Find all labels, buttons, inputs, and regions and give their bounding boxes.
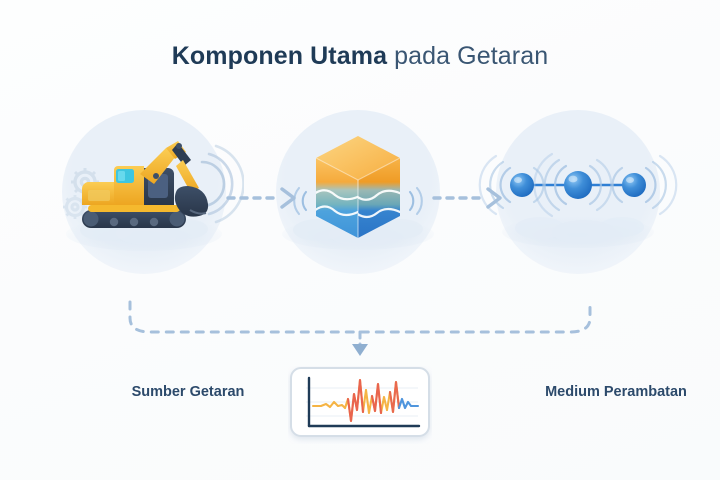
component-medium: Medium Perambatan	[258, 110, 458, 260]
wave-node	[564, 171, 592, 199]
connector-columns-to-result	[100, 298, 620, 366]
excavator-icon	[44, 110, 244, 260]
component-propagation: Perambatan	[478, 110, 678, 260]
component-medium-label: Medium Perambatan	[506, 384, 720, 400]
page-title-light: pada Getaran	[387, 42, 548, 70]
infographic-canvas: Komponen Utama pada Getaran	[0, 0, 720, 480]
page-title-strong: Komponen Utama	[172, 42, 387, 70]
page-title: Komponen Utama pada Getaran	[0, 42, 720, 71]
excavator-tracks	[82, 205, 186, 228]
component-source-label: Sumber Getaran	[78, 384, 298, 400]
component-source: Sumber Getaran	[44, 110, 244, 260]
wave-node	[510, 173, 534, 197]
soil-layers-cube-icon	[258, 110, 458, 260]
connector-source-to-medium	[226, 186, 304, 210]
waveform-card[interactable]	[288, 366, 432, 444]
connector-medium-to-propagation	[432, 186, 510, 210]
wave-node	[622, 173, 646, 197]
wave-nodes-icon	[478, 110, 678, 260]
cloud-base	[502, 216, 654, 248]
wave-arcs-icon	[202, 146, 244, 222]
